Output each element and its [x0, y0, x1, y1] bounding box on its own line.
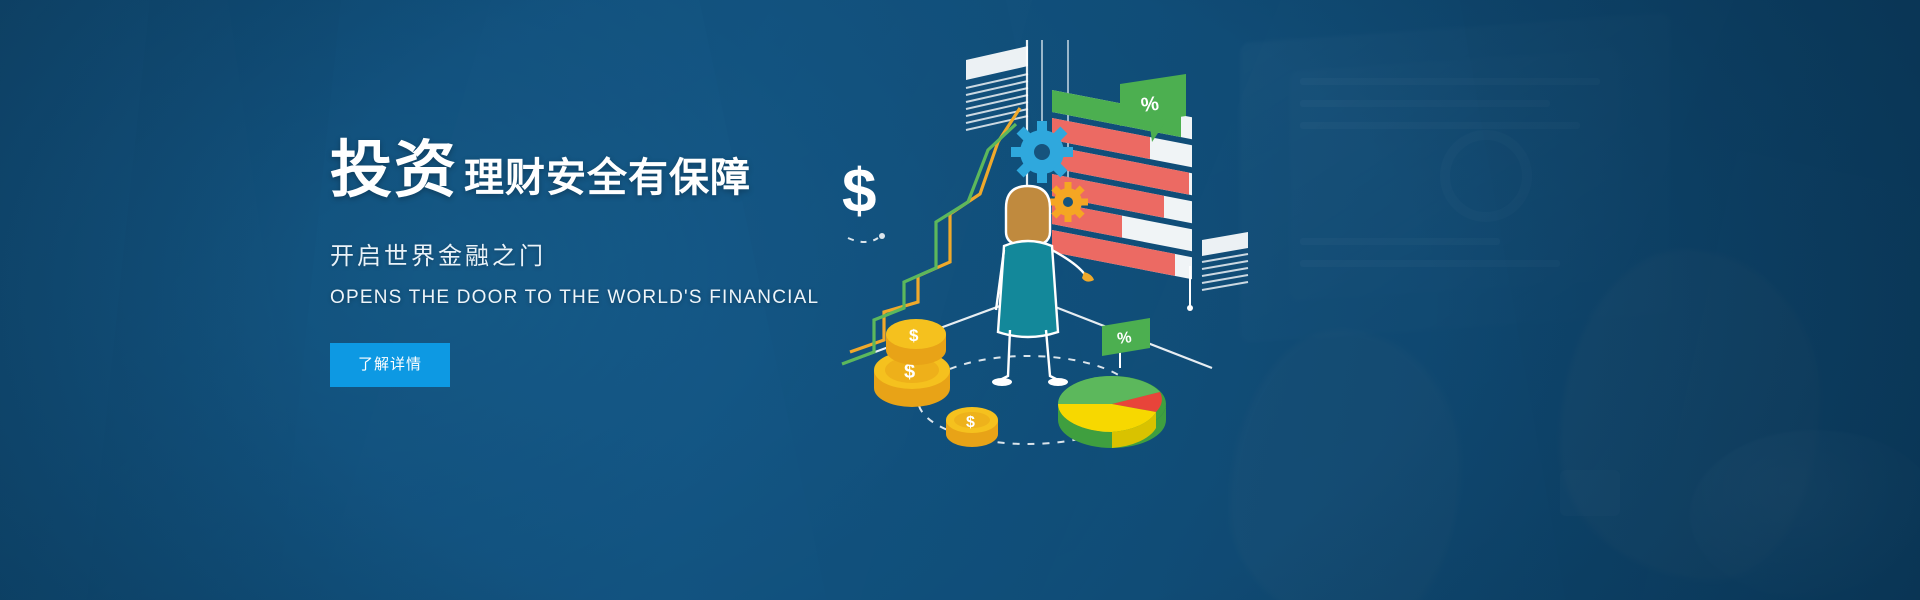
svg-text:$: $: [842, 157, 876, 226]
figure-leg-left: [1000, 330, 1010, 380]
gear-small-orange: [1048, 182, 1088, 222]
learn-more-button[interactable]: 了解详情: [330, 343, 450, 387]
headline-rest: 理财安全有保障: [464, 158, 751, 202]
coin-single: $: [946, 407, 998, 447]
document-block-right: [1202, 232, 1248, 290]
percent-badge-bottom: %: [1102, 318, 1150, 368]
dollar-sign: $: [842, 157, 876, 226]
coin-stack-symbol-2: $: [909, 326, 919, 345]
figure-head: [1006, 186, 1050, 246]
dollar-dotted-trail: [848, 233, 885, 242]
gear-large-blue: [1011, 121, 1073, 183]
percent-badge-top-label: %: [1140, 93, 1161, 117]
percent-badge-bottom-label: %: [1116, 329, 1132, 348]
figure-shoe-left: [992, 378, 1012, 386]
figure-shoe-right: [1048, 378, 1068, 386]
coin-single-symbol: $: [966, 414, 975, 431]
document-block-top: [966, 46, 1028, 130]
figure-torso: [998, 241, 1058, 337]
headline-emphasis: 投资: [330, 140, 458, 202]
hero-banner: 投资 理财安全有保障 开启世界金融之门 OPENS THE DOOR TO TH…: [0, 0, 1920, 600]
pie-chart: [1058, 376, 1166, 448]
figure-hand: [1082, 272, 1094, 282]
figure-leg-right: [1046, 330, 1058, 380]
finance-illustration: $: [820, 0, 1280, 600]
